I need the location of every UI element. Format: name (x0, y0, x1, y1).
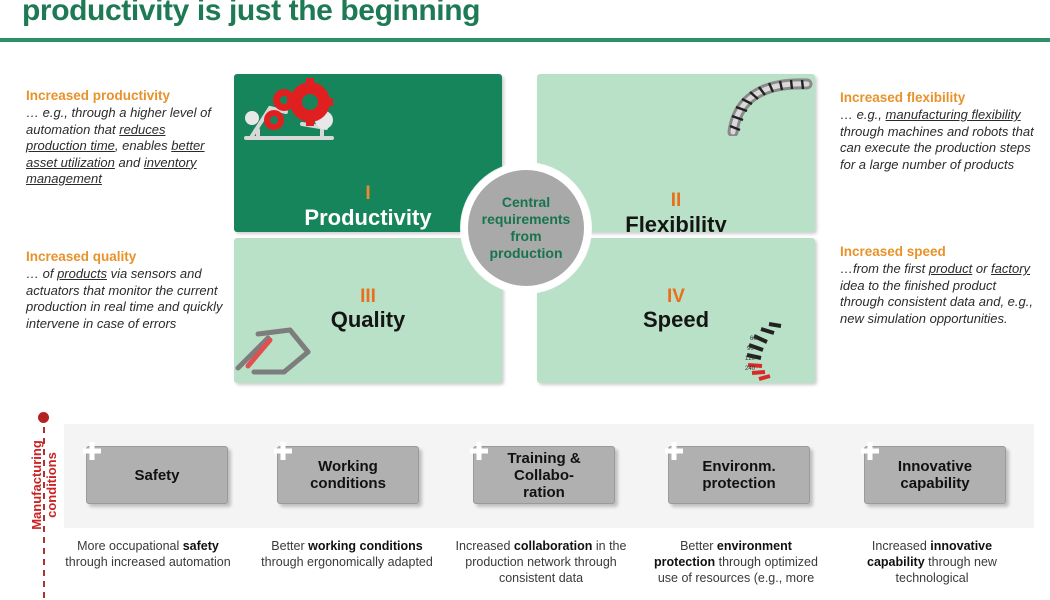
card-description: Better working conditions through ergono… (259, 538, 435, 570)
central-circle-text: Central requirements from production (482, 194, 571, 262)
svg-text:120: 120 (745, 356, 756, 362)
note-heading: Increased quality (26, 249, 226, 265)
svg-text:240: 240 (745, 366, 756, 372)
note-increased-productivity: Increased productivity … e.g., through a… (26, 88, 226, 188)
note-body: …from the first product or factory idea … (840, 261, 1040, 327)
card-label: Workingconditions (310, 458, 386, 492)
title-divider (0, 38, 1050, 42)
caliper-icon (234, 324, 322, 382)
axis-label-line-1: Manufacturing (29, 440, 44, 530)
slide-canvas: productivity is just the beginning Incre… (0, 0, 1050, 600)
central-requirements-circle[interactable]: Central requirements from production (461, 163, 591, 293)
condition-card-safety[interactable]: Safety (86, 446, 228, 504)
plus-icon (469, 441, 489, 461)
quadrant-productivity[interactable]: I Productivity (234, 74, 502, 232)
card-label: Training &Collabo-ration (507, 450, 580, 501)
svg-text:60: 60 (750, 336, 757, 342)
condition-card-innovative-capability[interactable]: Innovativecapability (864, 446, 1006, 504)
note-body: … of products via sensors and actuators … (26, 266, 226, 332)
card-description: Increased innovative capability through … (844, 538, 1020, 586)
card-description: More occupational safety through increas… (60, 538, 236, 570)
gears-icon (240, 78, 340, 148)
note-increased-quality: Increased quality … of products via sens… (26, 249, 226, 332)
note-increased-flexibility: Increased flexibility … e.g., manufactur… (840, 90, 1040, 173)
axis-label: Manufacturing conditions (29, 415, 59, 555)
condition-card-working-conditions[interactable]: Workingconditions (277, 446, 419, 504)
note-heading: Increased speed (840, 244, 1040, 260)
page-title: productivity is just the beginning (22, 0, 480, 28)
quadrant-quality[interactable]: III Quality (234, 238, 502, 383)
card-label: Environm.protection (702, 458, 775, 492)
svg-text:90: 90 (747, 346, 754, 352)
quadrant-label: Quality (234, 308, 502, 332)
condition-card-environmental-protection[interactable]: Environm.protection (668, 446, 810, 504)
plus-icon (273, 441, 293, 461)
card-label: Safety (134, 467, 179, 484)
note-heading: Increased flexibility (840, 90, 1040, 106)
center-line-2: requirements (482, 211, 571, 227)
card-description: Better environment protection through op… (648, 538, 824, 586)
center-line-4: production (489, 245, 562, 261)
card-description: Increased collaboration in the productio… (453, 538, 629, 586)
note-body: … e.g., manufacturing flexibility throug… (840, 107, 1040, 173)
axis-label-line-2: conditions (44, 452, 59, 518)
card-label: Innovativecapability (898, 458, 972, 492)
center-line-3: from (510, 228, 541, 244)
quadrant-numeral: I (234, 184, 502, 203)
plus-icon (82, 441, 102, 461)
manufacturing-conditions-axis: Manufacturing conditions (26, 410, 62, 600)
note-increased-speed: Increased speed …from the first product … (840, 244, 1040, 327)
quadrant-numeral: III (234, 287, 502, 306)
robot-arm-icon (727, 78, 813, 136)
note-heading: Increased productivity (26, 88, 226, 104)
quadrant-label: Speed (537, 308, 815, 332)
condition-card-training-collaboration[interactable]: Training &Collabo-ration (473, 446, 615, 504)
quadrant-numeral: IV (537, 287, 815, 306)
plus-icon (860, 441, 880, 461)
plus-icon (664, 441, 684, 461)
center-line-1: Central (502, 194, 550, 210)
note-body: … e.g., through a higher level of automa… (26, 105, 226, 188)
